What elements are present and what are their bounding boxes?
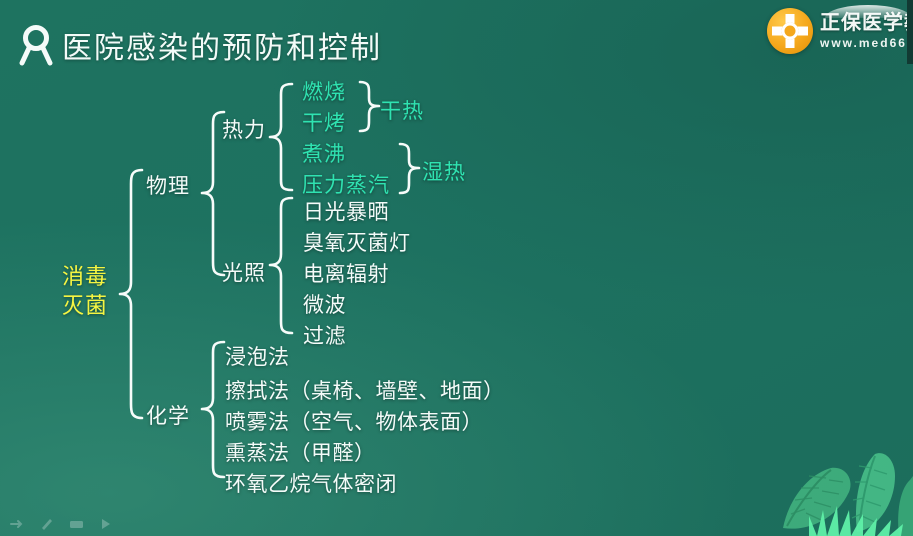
chemical-item-4: 环氧乙烷气体密闭 [225,468,397,498]
thermal-item-1: 干烤 [302,107,346,137]
root-line-1: 消毒 [62,262,108,291]
brace-dry-heat [358,80,382,134]
light-item-0: 日光暴晒 [303,196,389,226]
group-label-dry-heat: 干热 [380,95,424,125]
slide-header: 医院感染的预防和控制 正保医学教育 www.med66.c [0,0,913,72]
branch-label-chemical: 化学 [146,400,190,430]
light-item-4: 过滤 [303,320,346,350]
eraser-icon[interactable] [68,515,85,532]
branch-label-physical: 物理 [146,170,190,200]
brace-root [118,168,144,420]
brand-url: www.med66.c [820,37,913,50]
page-title: 医院感染的预防和控制 [62,23,382,67]
group-label-moist-heat: 湿热 [422,156,466,186]
slide-canvas: 医院感染的预防和控制 正保医学教育 www.med66.c 消毒 灭菌 物理 [0,0,913,536]
light-item-2: 电离辐射 [303,258,389,288]
brace-thermal [268,82,294,194]
tropical-leaves-icon [713,406,913,536]
brand-logo: 正保医学教育 www.med66.c [761,2,913,60]
thermal-item-3: 压力蒸汽 [302,169,390,199]
mindmap-root: 消毒 灭菌 [62,262,108,320]
subbranch-label-thermal: 热力 [222,114,266,144]
light-item-3: 微波 [303,289,346,319]
person-icon [18,24,54,66]
brand-swoosh-decor [825,5,911,18]
chemical-item-0: 浸泡法 [225,341,290,371]
subbranch-label-light: 光照 [222,257,266,287]
light-item-1: 臭氧灭菌灯 [303,227,411,257]
medical-cross-logo-icon [767,8,813,54]
chemical-item-2: 喷雾法（空气、物体表面） [225,406,483,436]
pen-icon[interactable] [38,515,55,532]
brace-chemical [200,340,226,484]
shape-icon[interactable] [98,515,115,532]
chemical-item-3: 熏蒸法（甲醛） [225,437,376,467]
cursor-icon[interactable] [8,515,25,532]
annotation-toolbar[interactable] [8,515,115,532]
chemical-item-1: 擦拭法（桌椅、墙壁、地面） [225,375,505,405]
root-line-2: 灭菌 [62,291,108,320]
thermal-item-2: 煮沸 [302,138,346,168]
brace-light [268,196,294,340]
thermal-item-0: 燃烧 [302,76,346,106]
brace-moist-heat [398,142,422,196]
brand-edge-clip [907,0,913,64]
